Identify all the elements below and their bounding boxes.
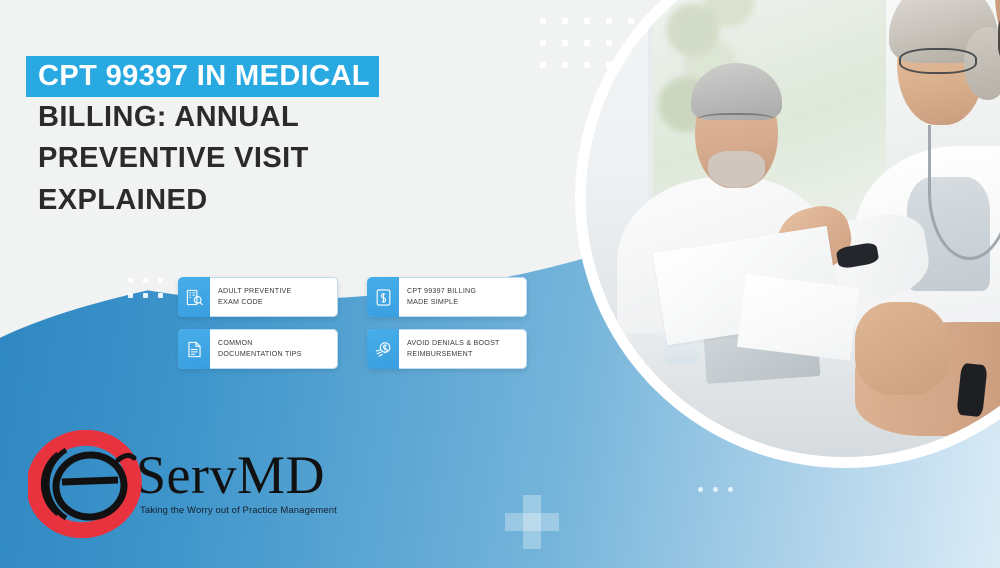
exam-code-icon <box>178 277 210 317</box>
headline-line-4: EXPLAINED <box>30 180 500 221</box>
medical-cross-icon <box>505 495 559 549</box>
feature-list: ADULT PREVENTIVEEXAM CODE CPT 99397 BILL… <box>178 277 558 369</box>
dot-grid-mid-left <box>128 278 174 312</box>
brand-name: ServMD <box>136 445 325 505</box>
billing-invoice-icon <box>367 277 399 317</box>
brand-tagline: Taking the Worry out of Practice Managem… <box>140 505 337 516</box>
feature-label: COMMONDOCUMENTATION TIPS <box>210 329 338 369</box>
feature-label: ADULT PREVENTIVEEXAM CODE <box>210 277 338 317</box>
dot-row-bottom <box>698 487 748 497</box>
feature-label: CPT 99397 BILLINGMADE SIMPLE <box>399 277 527 317</box>
headline-line-1: CPT 99397 IN MEDICAL <box>26 56 379 97</box>
headline-line-3: PREVENTIVE VISIT <box>30 138 500 179</box>
feature-label: AVOID DENIALS & BOOSTREIMBURSEMENT <box>399 329 527 369</box>
feature-item-cpt-99397-billing-made-simple[interactable]: CPT 99397 BILLINGMADE SIMPLE <box>367 277 527 317</box>
headline: CPT 99397 IN MEDICAL BILLING: ANNUAL PRE… <box>30 56 500 221</box>
feature-item-adult-preventive-exam-code[interactable]: ADULT PREVENTIVEEXAM CODE <box>178 277 338 317</box>
banner-canvas: CPT 99397 IN MEDICAL BILLING: ANNUAL PRE… <box>0 0 1000 568</box>
dot-grid-top-left <box>540 18 650 78</box>
headline-line-2: BILLING: ANNUAL <box>30 97 500 138</box>
feature-item-common-documentation-tips[interactable]: COMMONDOCUMENTATION TIPS <box>178 329 338 369</box>
brand-logo[interactable]: ServMD Taking the Worry out of Practice … <box>28 430 337 538</box>
documentation-icon <box>178 329 210 369</box>
e-circle-logomark <box>28 430 146 538</box>
reimbursement-icon <box>367 329 399 369</box>
feature-item-avoid-denials-boost-reimbursement[interactable]: AVOID DENIALS & BOOSTREIMBURSEMENT <box>367 329 527 369</box>
